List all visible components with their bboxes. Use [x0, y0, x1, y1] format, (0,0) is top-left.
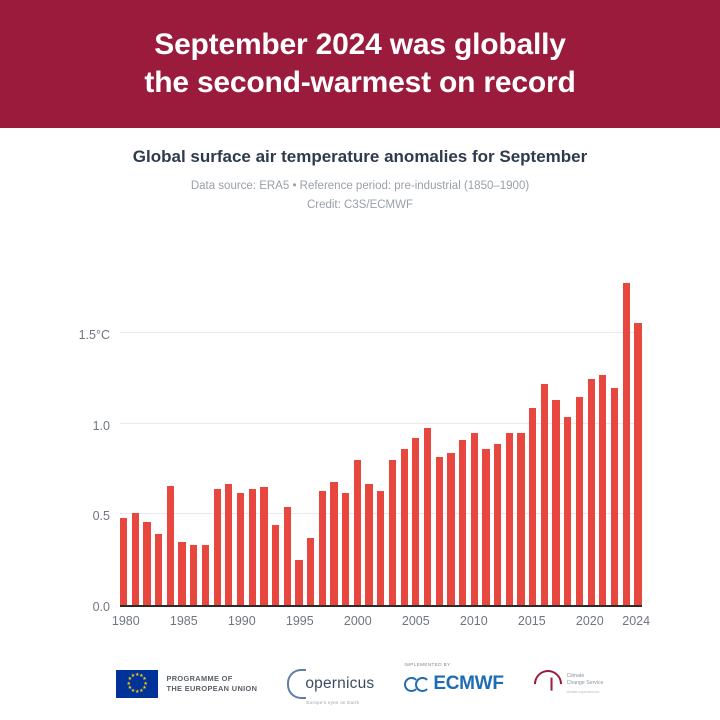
y-axis-tick-label: 1.5°C — [79, 328, 110, 342]
bar — [517, 433, 524, 605]
chart-subtitle-line-2: Credit: C3S/ECMWF — [0, 197, 720, 214]
bar — [623, 283, 630, 605]
copernicus-tagline: Europe's eyes on Earth — [306, 700, 359, 705]
x-axis-tick-label: 2024 — [622, 614, 650, 628]
x-axis-tick-label: 1980 — [112, 614, 140, 628]
eu-star-icon: ★ — [135, 690, 139, 695]
bar — [634, 323, 641, 605]
bar — [552, 400, 559, 605]
x-axis-tick-label: 2000 — [344, 614, 372, 628]
bar — [190, 545, 197, 605]
ecmwf-logo: IMPLEMENTED BY ECMWF — [404, 673, 503, 695]
y-axis-tick-label: 1.0 — [93, 419, 110, 433]
bar — [295, 560, 302, 605]
bar — [599, 375, 606, 605]
eu-star-icon: ★ — [131, 674, 135, 679]
bar — [459, 440, 466, 605]
bar — [389, 460, 396, 605]
c3s-line-2: Change Service — [567, 680, 604, 688]
bar — [412, 438, 419, 605]
x-axis-tick-label: 1985 — [170, 614, 198, 628]
copernicus-arc-icon — [287, 669, 306, 699]
bar — [167, 486, 174, 606]
bar — [564, 417, 571, 605]
bar — [588, 379, 595, 605]
bar — [272, 525, 279, 605]
x-axis-tick-label: 2005 — [402, 614, 430, 628]
header-banner: September 2024 was globally the second-w… — [0, 0, 720, 128]
ecmwf-implemented-by-label: IMPLEMENTED BY — [404, 662, 450, 667]
bar — [401, 449, 408, 605]
bar — [342, 493, 349, 605]
y-axis-tick-label: 0.0 — [93, 600, 110, 614]
headline-line-1: September 2024 was globally — [154, 26, 565, 64]
footer-logos: ★★★★★★★★★★★★ PROGRAMME OF THE EUROPEAN U… — [0, 648, 720, 720]
chart-subtitle-line-1: Data source: ERA5 • Reference period: pr… — [0, 178, 720, 195]
chart-title: Global surface air temperature anomalies… — [130, 146, 590, 169]
ecmwf-double-c-icon — [404, 677, 430, 692]
chart-baseline-axis — [120, 605, 642, 607]
copernicus-logo: opernicus Europe's eyes on Earth — [287, 669, 374, 699]
c3s-arc-icon — [528, 664, 568, 704]
c3s-line-1: Climate — [567, 673, 604, 681]
bar — [214, 489, 221, 605]
eu-star-icon: ★ — [139, 689, 143, 694]
bar — [284, 507, 291, 605]
chart-plot-area: 0.00.51.01.5°C 1980198519901995200020052… — [0, 250, 720, 645]
bar — [354, 460, 361, 605]
climate-change-service-logo: Climate Change Service climate.copernicu… — [534, 670, 604, 698]
bar — [447, 453, 454, 605]
x-axis-tick-label: 1990 — [228, 614, 256, 628]
bar — [260, 487, 267, 605]
bar — [155, 534, 162, 605]
headline-line-2: the second-warmest on record — [144, 64, 575, 102]
ecmwf-c-icon-2 — [415, 677, 430, 692]
bar — [506, 433, 513, 605]
bar — [482, 449, 489, 605]
bar — [541, 384, 548, 605]
copernicus-wordmark: opernicus — [305, 675, 374, 693]
y-axis-tick-label: 0.5 — [93, 509, 110, 523]
chart-canvas: 0.00.51.01.5°C 1980198519901995200020052… — [120, 270, 642, 607]
eu-logo: ★★★★★★★★★★★★ PROGRAMME OF THE EUROPEAN U… — [116, 670, 257, 698]
bar — [436, 457, 443, 605]
chart-header: Global surface air temperature anomalies… — [0, 128, 720, 214]
eu-logo-line-2: THE EUROPEAN UNION — [166, 684, 257, 694]
bar — [202, 545, 209, 605]
x-axis-tick-label: 1995 — [286, 614, 314, 628]
c3s-logo-text: Climate Change Service climate.copernicu… — [567, 673, 604, 696]
bar — [377, 491, 384, 605]
c3s-url: climate.copernicus.eu — [567, 690, 604, 695]
c3s-thermometer-icon — [550, 678, 552, 691]
x-axis-tick-label: 2015 — [518, 614, 546, 628]
bar — [178, 542, 185, 605]
bar — [120, 518, 127, 605]
eu-logo-text: PROGRAMME OF THE EUROPEAN UNION — [166, 674, 257, 694]
bar — [319, 491, 326, 605]
ecmwf-wordmark: ECMWF — [433, 673, 503, 695]
bar — [576, 397, 583, 605]
bar — [237, 493, 244, 605]
bar — [249, 489, 256, 605]
bar — [611, 388, 618, 605]
eu-flag-icon: ★★★★★★★★★★★★ — [116, 670, 158, 698]
bar — [132, 513, 139, 605]
bar — [225, 484, 232, 605]
bar — [471, 433, 478, 605]
bar — [365, 484, 372, 605]
chart-bars — [120, 270, 642, 605]
x-axis-tick-label: 2020 — [576, 614, 604, 628]
bar — [494, 444, 501, 605]
bar — [307, 538, 314, 605]
x-axis-tick-label: 2010 — [460, 614, 488, 628]
chart-subtitle: Data source: ERA5 • Reference period: pr… — [0, 178, 720, 215]
bar — [529, 408, 536, 605]
eu-logo-line-1: PROGRAMME OF — [166, 674, 257, 684]
bar — [143, 522, 150, 605]
bar — [424, 428, 431, 605]
bar — [330, 482, 337, 605]
